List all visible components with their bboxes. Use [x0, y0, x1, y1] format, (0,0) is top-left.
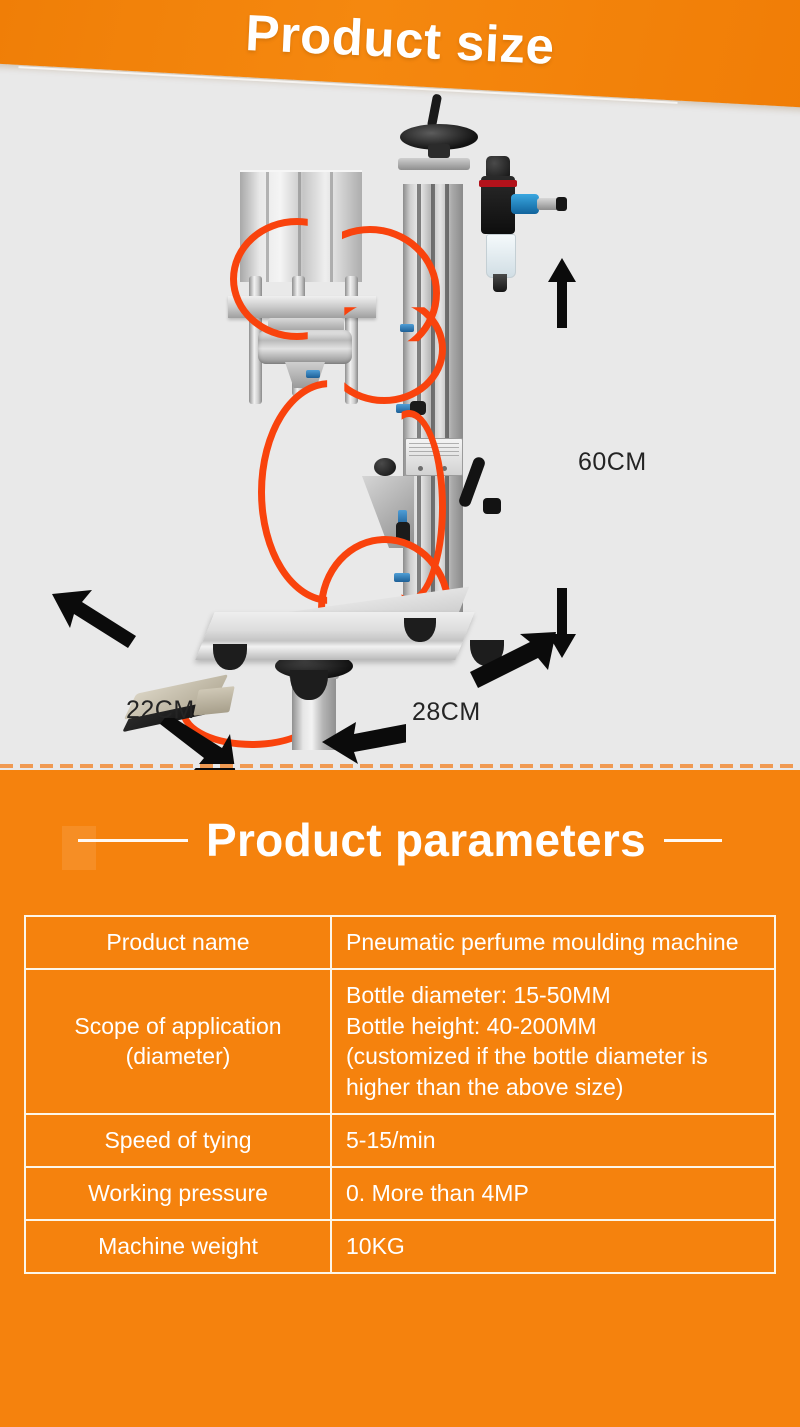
regulator-blue-fitting — [511, 194, 539, 214]
product-infographic-page: Product size — [0, 0, 800, 1427]
foot-pedal-body — [193, 686, 235, 716]
section-divider — [0, 764, 800, 768]
table-row: Working pressure 0. More than 4MP — [25, 1167, 775, 1220]
scope-line-1: Bottle diameter: 15-50MM — [346, 980, 760, 1011]
spec-key-speed: Speed of tying — [25, 1114, 331, 1167]
depth-arrow-downright-icon — [160, 718, 250, 770]
regulator-red-ring — [479, 180, 517, 187]
clamp-lever-knob — [483, 498, 501, 514]
spec-value-scope: Bottle diameter: 15-50MM Bottle height: … — [331, 969, 775, 1114]
spec-key-scope: Scope of application (diameter) — [25, 969, 331, 1114]
spec-value-pressure: 0. More than 4MP — [331, 1167, 775, 1220]
spec-key-scope-line2: (diameter) — [40, 1041, 316, 1072]
scope-line-2: Bottle height: 40-200MM — [346, 1011, 760, 1042]
spec-key-pressure: Working pressure — [25, 1167, 331, 1220]
regulator-end-cap — [556, 197, 567, 211]
base-foot-left — [213, 644, 247, 670]
filter-bowl — [486, 234, 516, 278]
filter-drain — [493, 274, 507, 292]
dimension-label-width: 28CM — [412, 698, 481, 727]
header-dash-left — [78, 839, 188, 842]
dimension-label-depth: 22CM — [126, 696, 195, 725]
width-arrow-left-icon — [322, 716, 406, 766]
section-title: Product parameters — [206, 813, 646, 867]
spec-value-product-name: Pneumatic perfume moulding machine — [331, 916, 775, 969]
product-parameters-section: Product parameters Product name Pneumati… — [0, 770, 800, 1427]
product-size-section: Product size — [0, 0, 800, 770]
spec-key-scope-line1: Scope of application — [40, 1011, 316, 1042]
scope-line-4: higher than the above size) — [346, 1072, 760, 1103]
column-top-cap — [398, 158, 470, 170]
scope-line-3: (customized if the bottle diameter is — [346, 1041, 760, 1072]
adjust-knob-icon — [374, 458, 396, 476]
table-row: Product name Pneumatic perfume moulding … — [25, 916, 775, 969]
product-photo: 60CM 22CM 28CM — [0, 118, 800, 770]
table-row: Speed of tying 5-15/min — [25, 1114, 775, 1167]
spec-value-weight: 10KG — [331, 1220, 775, 1273]
product-parameters-header: Product parameters — [0, 800, 800, 880]
depth-arrow-upleft-icon — [52, 588, 136, 658]
height-arrow-up-icon — [542, 258, 582, 328]
dimension-label-height: 60CM — [578, 448, 647, 477]
spec-table: Product name Pneumatic perfume moulding … — [24, 915, 776, 1274]
table-row: Scope of application (diameter) Bottle d… — [25, 969, 775, 1114]
handwheel-hub — [428, 144, 450, 158]
spec-value-speed: 5-15/min — [331, 1114, 775, 1167]
width-arrow-right-icon — [470, 630, 556, 690]
table-row: Machine weight 10KG — [25, 1220, 775, 1273]
spec-key-product-name: Product name — [25, 916, 331, 969]
fitting-4 — [306, 370, 320, 378]
header-dash-right — [664, 839, 722, 842]
spec-key-weight: Machine weight — [25, 1220, 331, 1273]
